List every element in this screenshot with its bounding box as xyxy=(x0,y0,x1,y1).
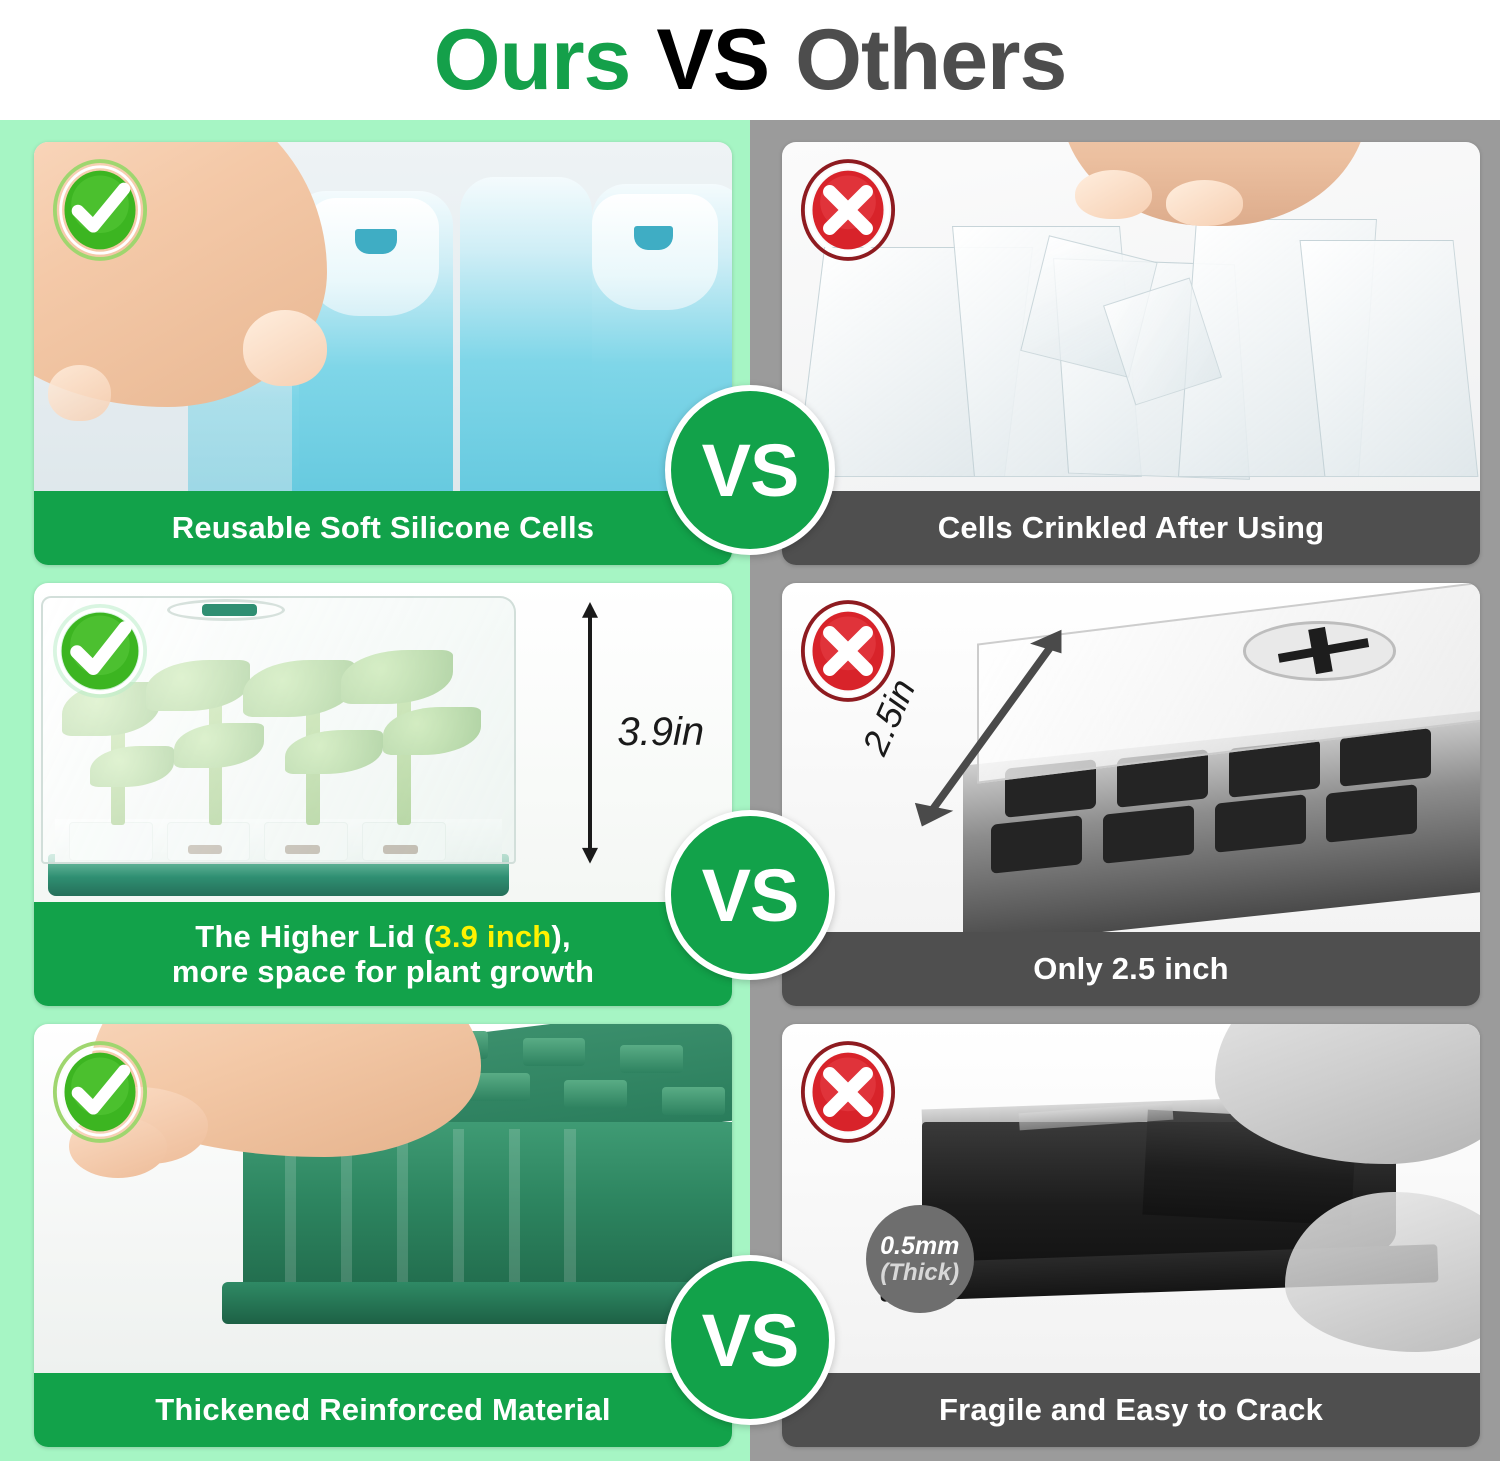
double-arrow-diagonal-icon xyxy=(880,618,1089,834)
thickness-badge: 0.5mm (Thick) xyxy=(866,1205,974,1313)
cross-circle-icon xyxy=(800,599,896,703)
caption-ours-2-line2: more space for plant growth xyxy=(172,954,594,989)
caption-others-1: Cells Crinkled After Using xyxy=(782,491,1480,565)
photo-others-bending-tray: 0.5mm (Thick) xyxy=(782,1024,1480,1373)
photo-others-short-dome: 2.5in xyxy=(782,583,1480,932)
dimension-label-ours: 3.9in xyxy=(617,710,704,755)
vs-badge-row-3: VS xyxy=(665,1255,835,1425)
check-circle-icon xyxy=(52,1040,148,1144)
caption-ours-2-post: ), xyxy=(551,919,570,954)
page-title: Ours VS Others xyxy=(0,0,1500,120)
card-others-fragile-material[interactable]: 0.5mm (Thick) Fragile and Easy to Crack xyxy=(782,1024,1480,1447)
row-ours-3: Thickened Reinforced Material xyxy=(34,1024,732,1447)
caption-ours-2: The Higher Lid (3.9 inch), more space fo… xyxy=(34,902,732,1006)
card-ours-higher-lid[interactable]: 3.9in The Higher Lid (3.9 inch), more sp… xyxy=(34,583,732,1006)
comparison-panels: Reusable Soft Silicone Cells xyxy=(0,120,1500,1461)
thickness-badge-value: 0.5mm xyxy=(880,1232,959,1260)
card-ours-silicone-cells[interactable]: Reusable Soft Silicone Cells xyxy=(34,142,732,565)
dimension-annotation-others: 2.5in xyxy=(880,618,1089,834)
photo-ours-tall-dome: 3.9in xyxy=(34,583,732,902)
caption-others-3: Fragile and Easy to Crack xyxy=(782,1373,1480,1447)
row-others-3: 0.5mm (Thick) Fragile and Easy to Crack xyxy=(782,1024,1480,1447)
title-word-vs: VS xyxy=(656,17,769,103)
row-ours-1: Reusable Soft Silicone Cells xyxy=(34,142,732,565)
photo-ours-silicone-cells xyxy=(34,142,732,491)
row-others-1: Cells Crinkled After Using xyxy=(782,142,1480,565)
comparison-infographic: Ours VS Others xyxy=(0,0,1500,1461)
title-word-ours: Ours xyxy=(434,17,631,103)
check-circle-icon xyxy=(52,599,148,703)
row-ours-2: 3.9in The Higher Lid (3.9 inch), more sp… xyxy=(34,583,732,1006)
dimension-annotation-ours: 3.9in xyxy=(577,602,704,864)
title-word-others: Others xyxy=(795,17,1066,103)
panel-others: Cells Crinkled After Using xyxy=(750,120,1500,1461)
cross-circle-icon xyxy=(800,158,896,262)
panel-ours: Reusable Soft Silicone Cells xyxy=(0,120,750,1461)
caption-ours-1: Reusable Soft Silicone Cells xyxy=(34,491,732,565)
cross-circle-icon xyxy=(800,1040,896,1144)
caption-ours-3: Thickened Reinforced Material xyxy=(34,1373,732,1447)
caption-others-2: Only 2.5 inch xyxy=(782,932,1480,1006)
card-others-crinkled-cells[interactable]: Cells Crinkled After Using xyxy=(782,142,1480,565)
vs-badge-row-2: VS xyxy=(665,810,835,980)
double-arrow-vertical-icon xyxy=(577,602,603,864)
vs-badge-row-1: VS xyxy=(665,385,835,555)
row-others-2: 2.5in Only 2.5 inch xyxy=(782,583,1480,1006)
photo-ours-green-tray xyxy=(34,1024,732,1373)
check-circle-icon xyxy=(52,158,148,262)
card-others-short-lid[interactable]: 2.5in Only 2.5 inch xyxy=(782,583,1480,1006)
caption-ours-2-highlight: 3.9 inch xyxy=(434,919,551,954)
card-ours-thickened-material[interactable]: Thickened Reinforced Material xyxy=(34,1024,732,1447)
photo-others-crinkled-plastic xyxy=(782,142,1480,491)
thickness-badge-note: (Thick) xyxy=(880,1260,959,1287)
caption-ours-2-pre: The Higher Lid ( xyxy=(195,919,434,954)
